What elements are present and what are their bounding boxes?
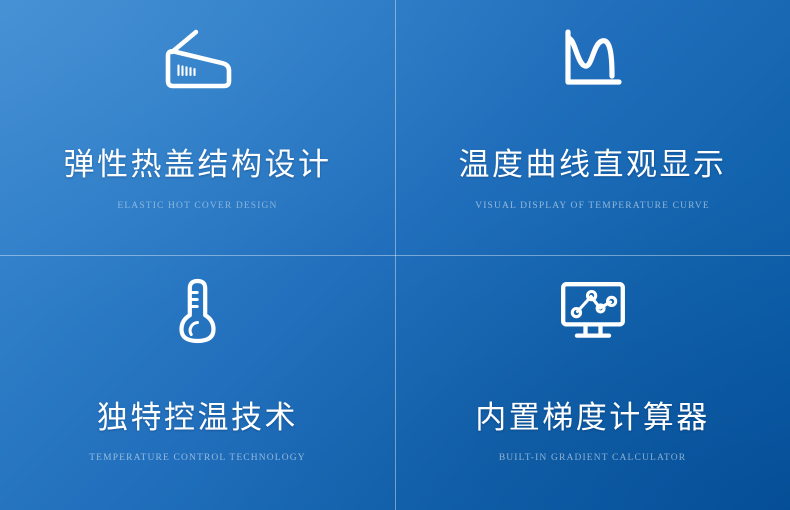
line-chart-icon <box>395 16 790 102</box>
feature-subtitle: VISUAL DISPLAY OF TEMPERATURE CURVE <box>475 201 710 211</box>
feature-subtitle: BUILT-IN GRADIENT CALCULATOR <box>499 453 686 463</box>
feature-cell-elastic-hot-cover: 弹性热盖结构设计 ELASTIC HOT COVER DESIGN <box>0 0 395 255</box>
feature-cell-gradient-calculator: 内置梯度计算器 BUILT-IN GRADIENT CALCULATOR <box>395 255 790 510</box>
feature-title: 独特控温技术 <box>97 401 298 435</box>
feature-grid: 弹性热盖结构设计 ELASTIC HOT COVER DESIGN 温度曲线直观… <box>0 0 790 510</box>
feature-subtitle: ELASTIC HOT COVER DESIGN <box>117 201 277 211</box>
feature-title: 温度曲线直观显示 <box>459 148 727 182</box>
thermometer-icon <box>0 268 395 354</box>
radio-device-icon <box>0 16 395 102</box>
feature-title: 内置梯度计算器 <box>475 401 710 435</box>
feature-cell-temperature-curve: 温度曲线直观显示 VISUAL DISPLAY OF TEMPERATURE C… <box>395 0 790 255</box>
feature-subtitle: TEMPERATURE CONTROL TECHNOLOGY <box>89 453 306 463</box>
feature-grid-slide: 弹性热盖结构设计 ELASTIC HOT COVER DESIGN 温度曲线直观… <box>0 0 790 510</box>
feature-cell-temperature-control: 独特控温技术 TEMPERATURE CONTROL TECHNOLOGY <box>0 255 395 510</box>
feature-title: 弹性热盖结构设计 <box>64 148 332 182</box>
monitor-graph-icon <box>395 268 790 354</box>
